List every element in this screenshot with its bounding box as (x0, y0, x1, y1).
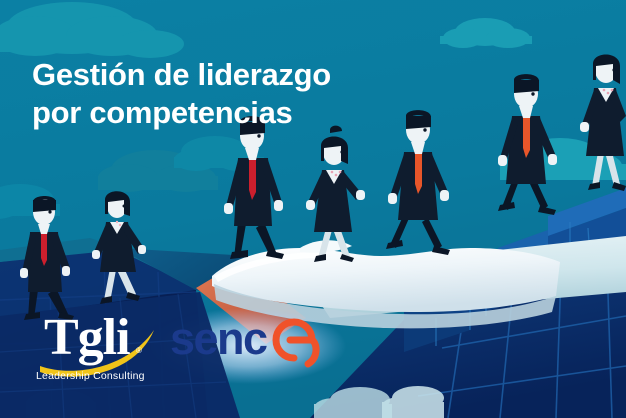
figure-businessman-3 (224, 116, 284, 259)
banner-image: Gestión de liderazgo por competencias Tg… (0, 0, 626, 418)
figure-businesswoman-4 (306, 126, 365, 262)
sence-wordmark: senc (170, 316, 267, 361)
tgli-tagline: Leadership Consulting (36, 370, 176, 382)
tgli-wordmark: Tgli (44, 312, 130, 364)
tgli-logo: Tgli ® Leadership Consulting (32, 310, 172, 388)
figure-businessman-6 (498, 74, 557, 215)
tgli-registered-mark: ® (136, 347, 142, 355)
figure-businesswoman-2 (92, 191, 146, 304)
figure-businessman-1 (20, 196, 74, 320)
figure-businessman-5 (386, 110, 450, 255)
sence-logo: senc (168, 316, 328, 378)
figure-businesswoman-7 (580, 54, 626, 191)
sence-e-swirl-icon (260, 314, 330, 376)
